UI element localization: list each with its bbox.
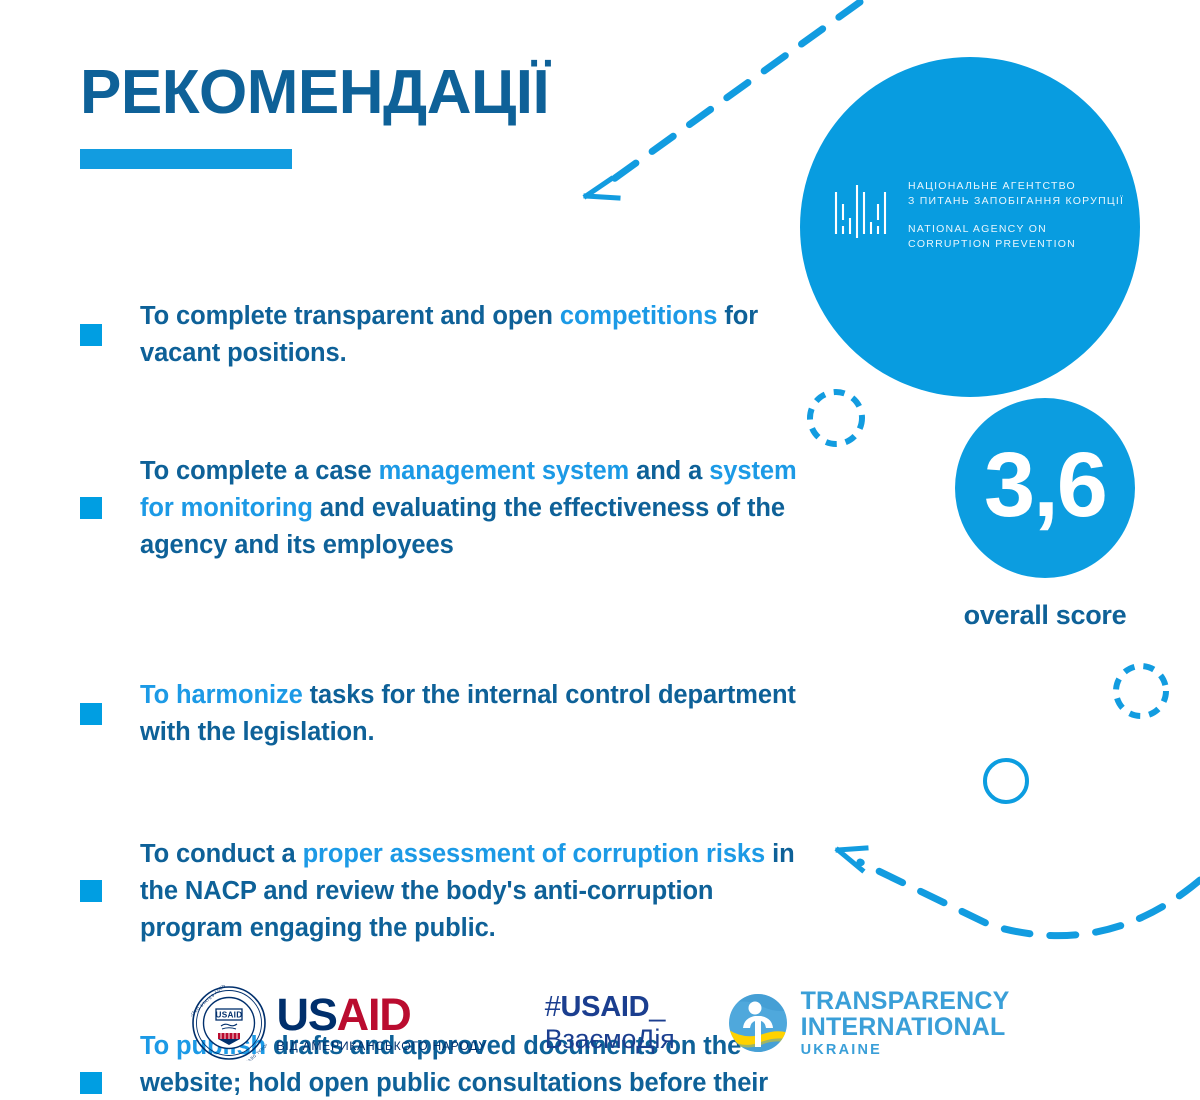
recommendation-item: To harmonize tasks for the internal cont… xyxy=(80,651,800,776)
usaid-tagline: ВІД АМЕРИКАНСЬКОГО НАРОДУ xyxy=(277,1039,487,1053)
svg-text:USAID: USAID xyxy=(215,1011,242,1020)
dashed-arrow-bottom-left xyxy=(838,848,1200,936)
overall-score-badge: 3,6 xyxy=(955,398,1135,578)
bullet-square-icon xyxy=(80,497,102,519)
nacp-title-ua-line1: НАЦІОНАЛЬНЕ АГЕНТСТВО xyxy=(908,179,1124,194)
vzaemodia-hash: # xyxy=(545,991,561,1023)
ti-line-transparency: TRANSPARENCY xyxy=(801,988,1010,1014)
ti-line-international: INTERNATIONAL xyxy=(801,1014,1010,1040)
nacp-logo-row: НАЦІОНАЛЬНЕ АГЕНТСТВО З ПИТАНЬ ЗАПОБІГАН… xyxy=(832,179,1124,252)
plain-phrase: To complete transparent and open xyxy=(140,302,560,330)
highlighted-phrase: competitions xyxy=(560,302,717,330)
recommendation-text: To complete a case management system and… xyxy=(140,453,800,564)
bullet-square-icon xyxy=(80,324,102,346)
dashed-circle-small-left xyxy=(810,392,862,444)
bullet-square-icon xyxy=(80,703,102,725)
nacp-title-en-line2: CORRUPTION PREVENTION xyxy=(908,237,1124,252)
overall-score-value: 3,6 xyxy=(984,439,1106,531)
highlighted-phrase: To harmonize xyxy=(140,681,303,709)
plain-phrase: To complete a case xyxy=(140,457,379,485)
recommendation-item: To complete transparent and open competi… xyxy=(80,272,800,397)
poster-canvas: РЕКОМЕНДАЦІЇ To complete transparent and… xyxy=(0,0,1200,1100)
transparency-international-logo: TRANSPARENCY INTERNATIONAL UKRAINE xyxy=(727,988,1010,1058)
nacp-text-block: НАЦІОНАЛЬНЕ АГЕНТСТВО З ПИТАНЬ ЗАПОБІГАН… xyxy=(908,179,1124,252)
recommendation-text: To harmonize tasks for the internal cont… xyxy=(140,677,800,751)
recommendation-item: To complete a case management system and… xyxy=(80,427,800,589)
nacp-bars-mark-icon xyxy=(832,182,890,240)
highlighted-phrase: proper assessment of corruption risks xyxy=(303,840,766,868)
page-title: РЕКОМЕНДАЦІЇ xyxy=(80,62,700,124)
footer-logos: USAID UNITED STATES AGENCY INTERNATIONAL… xyxy=(0,968,1200,1078)
vzaemodia-name: ВзаємоДія xyxy=(545,1024,675,1055)
ti-globe-icon xyxy=(727,992,789,1054)
recommendation-text: To conduct a proper assessment of corrup… xyxy=(140,836,800,947)
vzaemodia-underscore: _ xyxy=(649,991,665,1023)
vzaemodia-hashtag-line: #USAID_ xyxy=(545,991,675,1025)
vzaemodia-usaid: USAID xyxy=(561,991,650,1023)
recommendation-text: To complete transparent and open competi… xyxy=(140,298,800,372)
nacp-title-en-line1: NATIONAL AGENCY ON xyxy=(908,222,1124,237)
usaid-word-us: US xyxy=(277,989,337,1040)
usaid-logo: USAID UNITED STATES AGENCY INTERNATIONAL… xyxy=(191,985,487,1061)
usaid-wordmark-block: USAID ВІД АМЕРИКАНСЬКОГО НАРОДУ xyxy=(277,993,487,1052)
title-block: РЕКОМЕНДАЦІЇ xyxy=(80,62,700,169)
usaid-seal-icon: USAID UNITED STATES AGENCY INTERNATIONAL… xyxy=(191,985,267,1061)
usaid-word-aid: AID xyxy=(337,989,411,1040)
usaid-wordmark: USAID xyxy=(277,993,487,1036)
usaid-vzaemodia-logo: #USAID_ ВзаємоДія xyxy=(545,991,675,1056)
recommendation-item: To conduct a proper assessment of corrup… xyxy=(80,810,800,972)
highlighted-phrase: management system xyxy=(379,457,630,485)
title-underline-bar xyxy=(80,149,292,169)
plain-phrase: and a xyxy=(629,457,709,485)
plain-phrase: To conduct a xyxy=(140,840,303,868)
overall-score-caption: overall score xyxy=(915,600,1175,631)
ti-line-ukraine: UKRAINE xyxy=(801,1042,1010,1058)
nacp-title-ua-line2: З ПИТАНЬ ЗАПОБІГАННЯ КОРУПЦІЇ xyxy=(908,194,1124,209)
ti-text-block: TRANSPARENCY INTERNATIONAL UKRAINE xyxy=(801,988,1010,1058)
bullet-square-icon xyxy=(80,880,102,902)
dashed-circle-small-right xyxy=(1116,666,1166,716)
nacp-logo-badge: НАЦІОНАЛЬНЕ АГЕНТСТВО З ПИТАНЬ ЗАПОБІГАН… xyxy=(800,57,1140,397)
outline-circle-small xyxy=(985,760,1027,802)
